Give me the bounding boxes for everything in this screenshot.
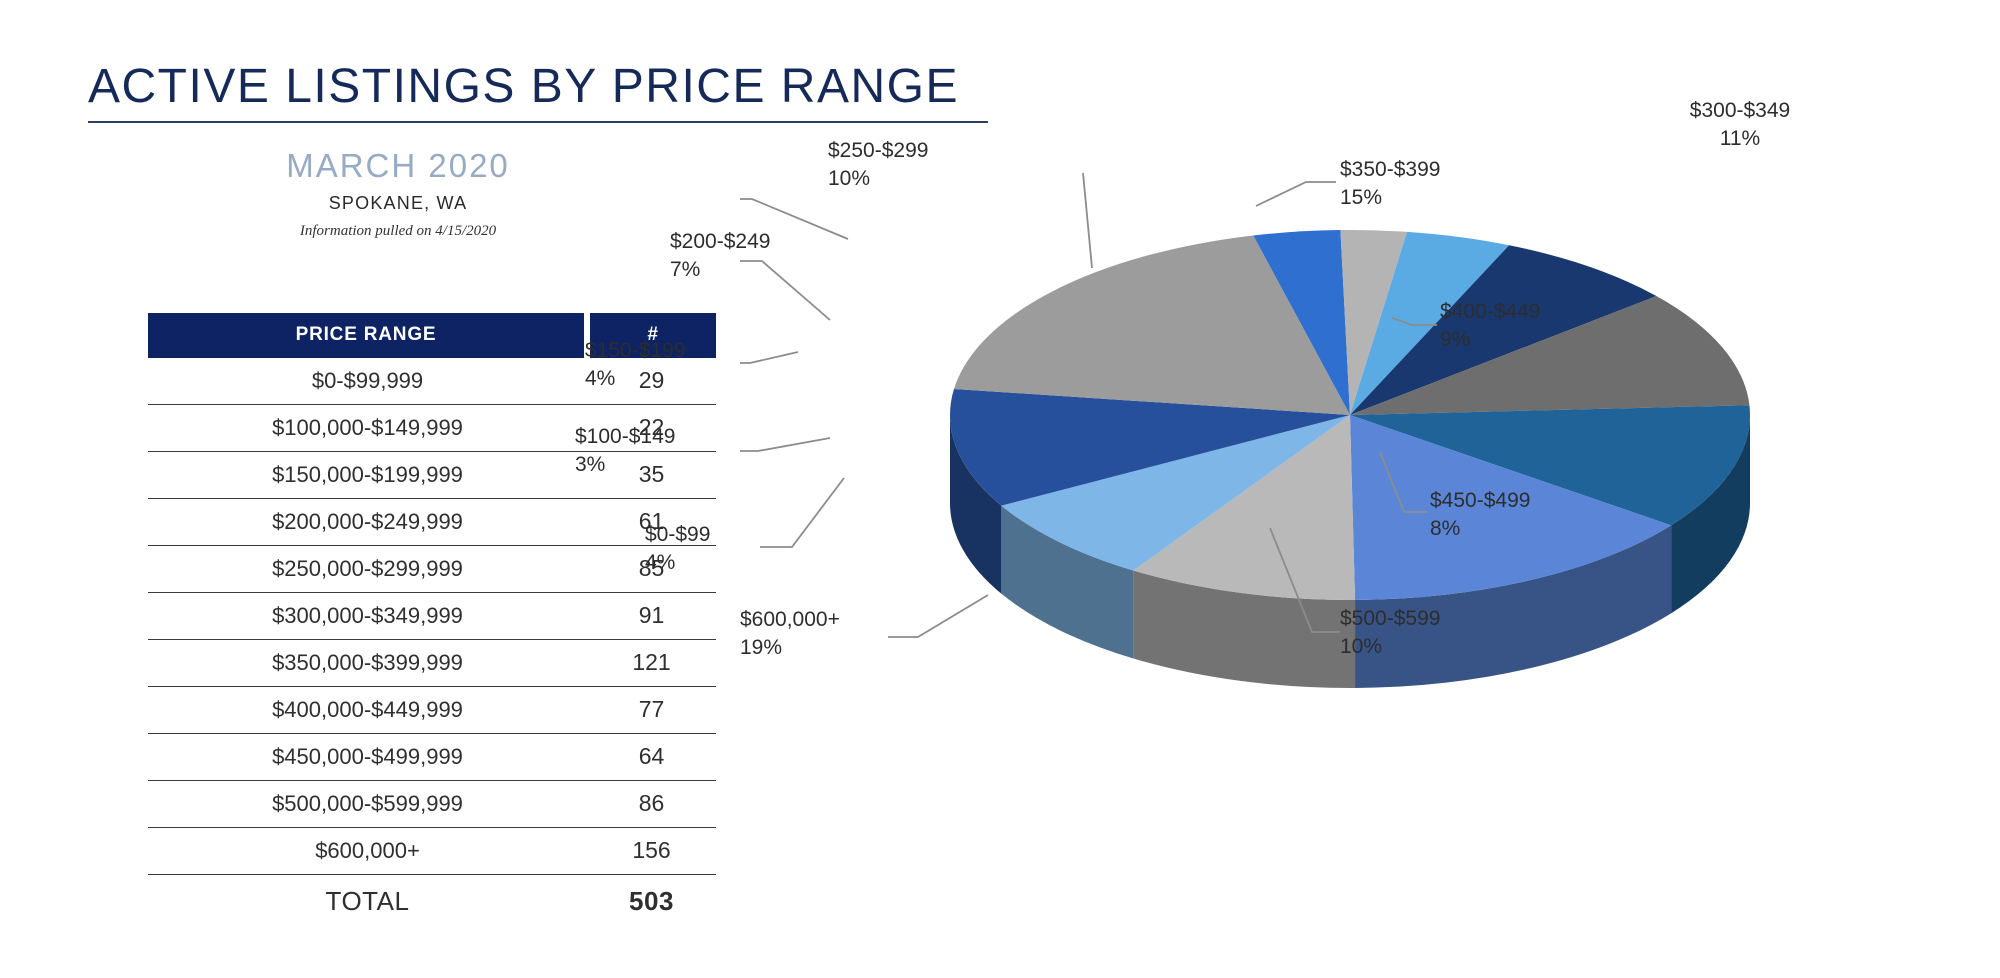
column-header-price-range: PRICE RANGE: [148, 313, 587, 358]
subtitle-month: MARCH 2020: [88, 147, 708, 185]
pie-label-350-399: $350-$399 15%: [1340, 156, 1440, 211]
pie-label-500-599-name: $500-$599: [1340, 607, 1440, 630]
pie-label-250-299-name: $250-$299: [828, 139, 928, 162]
pie-chart-area: $300-$349 11% $250-$299 10% $200-$249 7%…: [740, 0, 2000, 978]
pie-label-450-499-name: $450-$499: [1430, 489, 1530, 512]
pie-label-300-349-name: $300-$349: [1690, 99, 1790, 122]
leader-line-150-199: [740, 352, 798, 363]
pie-label-600000plus-name: $600,000+: [740, 608, 840, 631]
leader-line-0-99: [760, 478, 844, 547]
pie-label-500-599-pct: 10%: [1340, 633, 1440, 661]
pie-label-0-99-pct: 4%: [645, 549, 710, 577]
cell-price-range: $200,000-$249,999: [148, 499, 587, 546]
cell-price-range: $500,000-$599,999: [148, 781, 587, 828]
leader-line-100-149: [740, 438, 830, 451]
pie-label-600000plus: $600,000+ 19%: [740, 606, 840, 661]
pie-label-350-399-pct: 15%: [1340, 184, 1440, 212]
table-row: $200,000-$249,99961: [148, 499, 716, 546]
pie-label-200-249: $200-$249 7%: [670, 228, 770, 283]
pie-label-450-499: $450-$499 8%: [1430, 487, 1530, 542]
cell-count: 91: [587, 593, 716, 640]
pie-label-100-149-pct: 3%: [575, 451, 675, 479]
cell-price-range: $250,000-$299,999: [148, 546, 587, 593]
pie-label-0-99: $0-$99 4%: [645, 521, 710, 576]
pie-label-250-299-pct: 10%: [828, 165, 928, 193]
table-row: $450,000-$499,99964: [148, 734, 716, 781]
leader-line-350-399: [1256, 182, 1336, 206]
pie-label-200-249-pct: 7%: [670, 256, 770, 284]
pie-top-faces: [950, 230, 1750, 600]
cell-count: 77: [587, 687, 716, 734]
pie-label-500-599: $500-$599 10%: [1340, 605, 1440, 660]
cell-price-range: $600,000+: [148, 828, 587, 875]
table-row: $600,000+156: [148, 828, 716, 875]
pie-label-300-349: $300-$349 11%: [1690, 97, 1790, 152]
cell-price-range: $450,000-$499,999: [148, 734, 587, 781]
pie-label-350-399-name: $350-$399: [1340, 158, 1440, 181]
subtitle-city: SPOKANE, WA: [88, 193, 708, 214]
leader-line-300-349: [1083, 173, 1092, 268]
pie-label-250-299: $250-$299 10%: [828, 137, 928, 192]
cell-price-range: $350,000-$399,999: [148, 640, 587, 687]
cell-count: 86: [587, 781, 716, 828]
table-row: $500,000-$599,99986: [148, 781, 716, 828]
pie-label-400-449: $400-$449 9%: [1440, 298, 1540, 353]
pie-chart-svg: [740, 0, 2000, 978]
subtitle-data-pulled-date: Information pulled on 4/15/2020: [88, 223, 708, 240]
pie-label-150-199: $150-$199 4%: [585, 337, 685, 392]
cell-price-range: $150,000-$199,999: [148, 452, 587, 499]
pie-label-100-149-name: $100-$149: [575, 425, 675, 448]
total-value: 503: [587, 875, 716, 928]
pie-label-150-199-name: $150-$199: [585, 339, 685, 362]
cell-count: 121: [587, 640, 716, 687]
pie-label-200-249-name: $200-$249: [670, 230, 770, 253]
price-range-table: PRICE RANGE # $0-$99,99929$100,000-$149,…: [148, 313, 716, 927]
pie-label-0-99-name: $0-$99: [645, 523, 710, 546]
total-label: TOTAL: [148, 875, 587, 928]
pie-label-400-449-pct: 9%: [1440, 326, 1540, 354]
pie-label-150-199-pct: 4%: [585, 365, 685, 393]
table-total-row: TOTAL503: [148, 875, 716, 928]
pie-label-300-349-pct: 11%: [1690, 125, 1790, 153]
cell-price-range: $300,000-$349,999: [148, 593, 587, 640]
table-row: $400,000-$449,99977: [148, 687, 716, 734]
pie-label-100-149: $100-$149 3%: [575, 423, 675, 478]
cell-count: 64: [587, 734, 716, 781]
pie-label-450-499-pct: 8%: [1430, 515, 1530, 543]
leader-line-600000plus: [888, 595, 988, 637]
pie-label-600000plus-pct: 19%: [740, 634, 840, 662]
cell-price-range: $0-$99,999: [148, 358, 587, 405]
table-row: $300,000-$349,99991: [148, 593, 716, 640]
cell-count: 156: [587, 828, 716, 875]
table-row: $250,000-$299,99985: [148, 546, 716, 593]
pie-label-400-449-name: $400-$449: [1440, 300, 1540, 323]
table-row: $350,000-$399,999121: [148, 640, 716, 687]
cell-price-range: $100,000-$149,999: [148, 405, 587, 452]
cell-price-range: $400,000-$449,999: [148, 687, 587, 734]
